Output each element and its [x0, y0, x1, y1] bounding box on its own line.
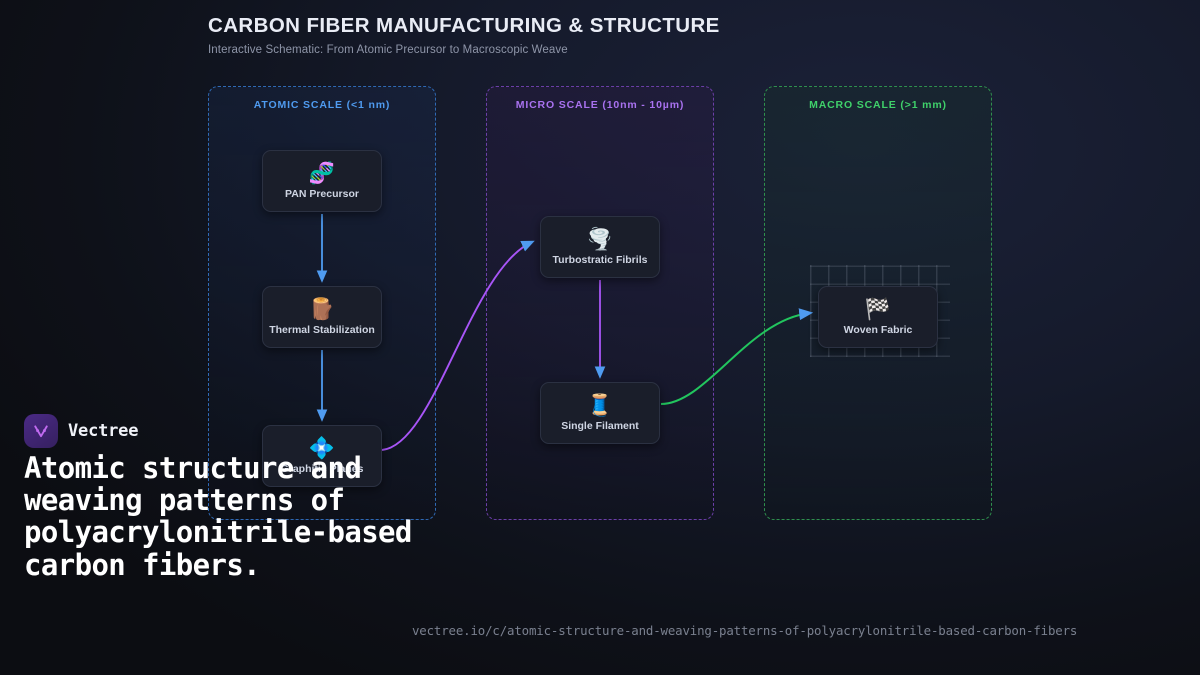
footer-url: vectree.io/c/atomic-structure-and-weavin… — [412, 623, 1077, 638]
vectree-logo-icon — [24, 414, 58, 448]
brand-lockup: Vectree — [24, 414, 138, 448]
node-label: Thermal Stabilization — [269, 324, 375, 336]
scale-column-micro[interactable]: MICRO SCALE (10nm - 10µm) — [486, 86, 714, 520]
dna-icon: 🧬 — [309, 162, 335, 186]
scale-column-title-macro: MACRO SCALE (>1 mm) — [765, 99, 991, 111]
thread-spool-icon: 🧵 — [587, 394, 613, 418]
scale-column-title-atomic: ATOMIC SCALE (<1 nm) — [209, 99, 435, 111]
node-label: Turbostratic Fibrils — [553, 254, 648, 266]
page-title: CARBON FIBER MANUFACTURING & STRUCTURE — [208, 14, 968, 39]
node-label: Woven Fabric — [844, 324, 913, 336]
page-subtitle: Interactive Schematic: From Atomic Precu… — [208, 44, 968, 56]
tornado-icon: 🌪️ — [587, 228, 613, 252]
node-thermal-stabilization[interactable]: 🪵 Thermal Stabilization — [262, 286, 382, 348]
vectree-glyph-icon — [31, 421, 51, 441]
screenshot-root: CARBON FIBER MANUFACTURING & STRUCTURE I… — [0, 0, 1200, 675]
node-label: PAN Precursor — [285, 188, 359, 200]
node-pan-precursor[interactable]: 🧬 PAN Precursor — [262, 150, 382, 212]
checkered-flag-icon: 🏁 — [865, 298, 891, 322]
scale-column-title-micro: MICRO SCALE (10nm - 10µm) — [487, 99, 713, 111]
ladder-icon: 🪵 — [309, 298, 335, 322]
node-single-filament[interactable]: 🧵 Single Filament — [540, 382, 660, 444]
node-woven-fabric[interactable]: 🏁 Woven Fabric — [818, 286, 938, 348]
brand-name: Vectree — [68, 421, 138, 441]
node-label: Single Filament — [561, 420, 639, 432]
overlay-caption: Atomic structure and weaving patterns of… — [24, 452, 424, 581]
header: CARBON FIBER MANUFACTURING & STRUCTURE I… — [208, 14, 968, 56]
node-turbostratic-fibrils[interactable]: 🌪️ Turbostratic Fibrils — [540, 216, 660, 278]
